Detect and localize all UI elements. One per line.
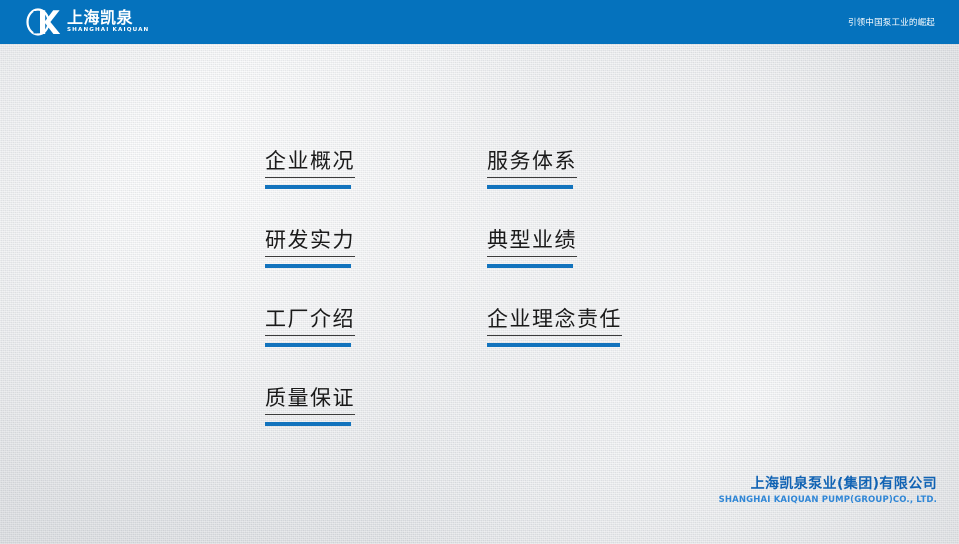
menu-item-accent-bar (265, 264, 351, 268)
menu-item-label: 质量保证 (265, 383, 355, 415)
menu-item-service-system[interactable]: 服务体系 (487, 146, 577, 189)
menu-item-factory-introduction[interactable]: 工厂介绍 (265, 304, 355, 347)
logo-wordmark: 上海凯泉 SHANGHAI KAIQUAN (67, 10, 148, 34)
menu-item-label: 服务体系 (487, 146, 577, 178)
kaiquan-k-circle-logo-icon (24, 7, 64, 37)
menu-item-corporate-philosophy-responsibility[interactable]: 企业理念责任 (487, 304, 622, 347)
menu-item-typical-projects[interactable]: 典型业绩 (487, 225, 577, 268)
menu-item-company-overview[interactable]: 企业概况 (265, 146, 355, 189)
footer-company-signature: 上海凯泉泵业(集团)有限公司 SHANGHAI KAIQUAN PUMP(GRO… (719, 476, 937, 506)
menu-item-accent-bar (265, 343, 351, 347)
menu-column-left: 企业概况 研发实力 工厂介绍 质量保证 (265, 146, 355, 462)
header-bar: 上海凯泉 SHANGHAI KAIQUAN 引领中国泵工业的崛起 (0, 0, 959, 44)
background-vignette (0, 0, 959, 544)
menu-item-accent-bar (487, 185, 573, 189)
menu-item-accent-bar (265, 185, 351, 189)
company-logo[interactable]: 上海凯泉 SHANGHAI KAIQUAN (24, 6, 148, 38)
menu-item-label: 工厂介绍 (265, 304, 355, 336)
presentation-slide: 上海凯泉 SHANGHAI KAIQUAN 引领中国泵工业的崛起 企业概况 研发… (0, 0, 959, 544)
header-slogan: 引领中国泵工业的崛起 (848, 0, 935, 44)
footer-company-name-en: SHANGHAI KAIQUAN PUMP(GROUP)CO., LTD. (719, 494, 937, 506)
menu-item-label: 研发实力 (265, 225, 355, 257)
menu-item-accent-bar (487, 343, 620, 347)
menu-item-accent-bar (487, 264, 573, 268)
menu-item-quality-assurance[interactable]: 质量保证 (265, 383, 355, 426)
logo-chinese-name: 上海凯泉 (67, 10, 148, 26)
menu-item-accent-bar (265, 422, 351, 426)
footer-company-name-cn: 上海凯泉泵业(集团)有限公司 (719, 476, 937, 493)
logo-english-name: SHANGHAI KAIQUAN (67, 28, 149, 34)
menu-item-label: 典型业绩 (487, 225, 577, 257)
menu-column-right: 服务体系 典型业绩 企业理念责任 (487, 146, 622, 383)
background-texture (0, 0, 959, 544)
menu-item-rd-strength[interactable]: 研发实力 (265, 225, 355, 268)
menu-item-label: 企业概况 (265, 146, 355, 178)
menu-item-label: 企业理念责任 (487, 304, 622, 336)
